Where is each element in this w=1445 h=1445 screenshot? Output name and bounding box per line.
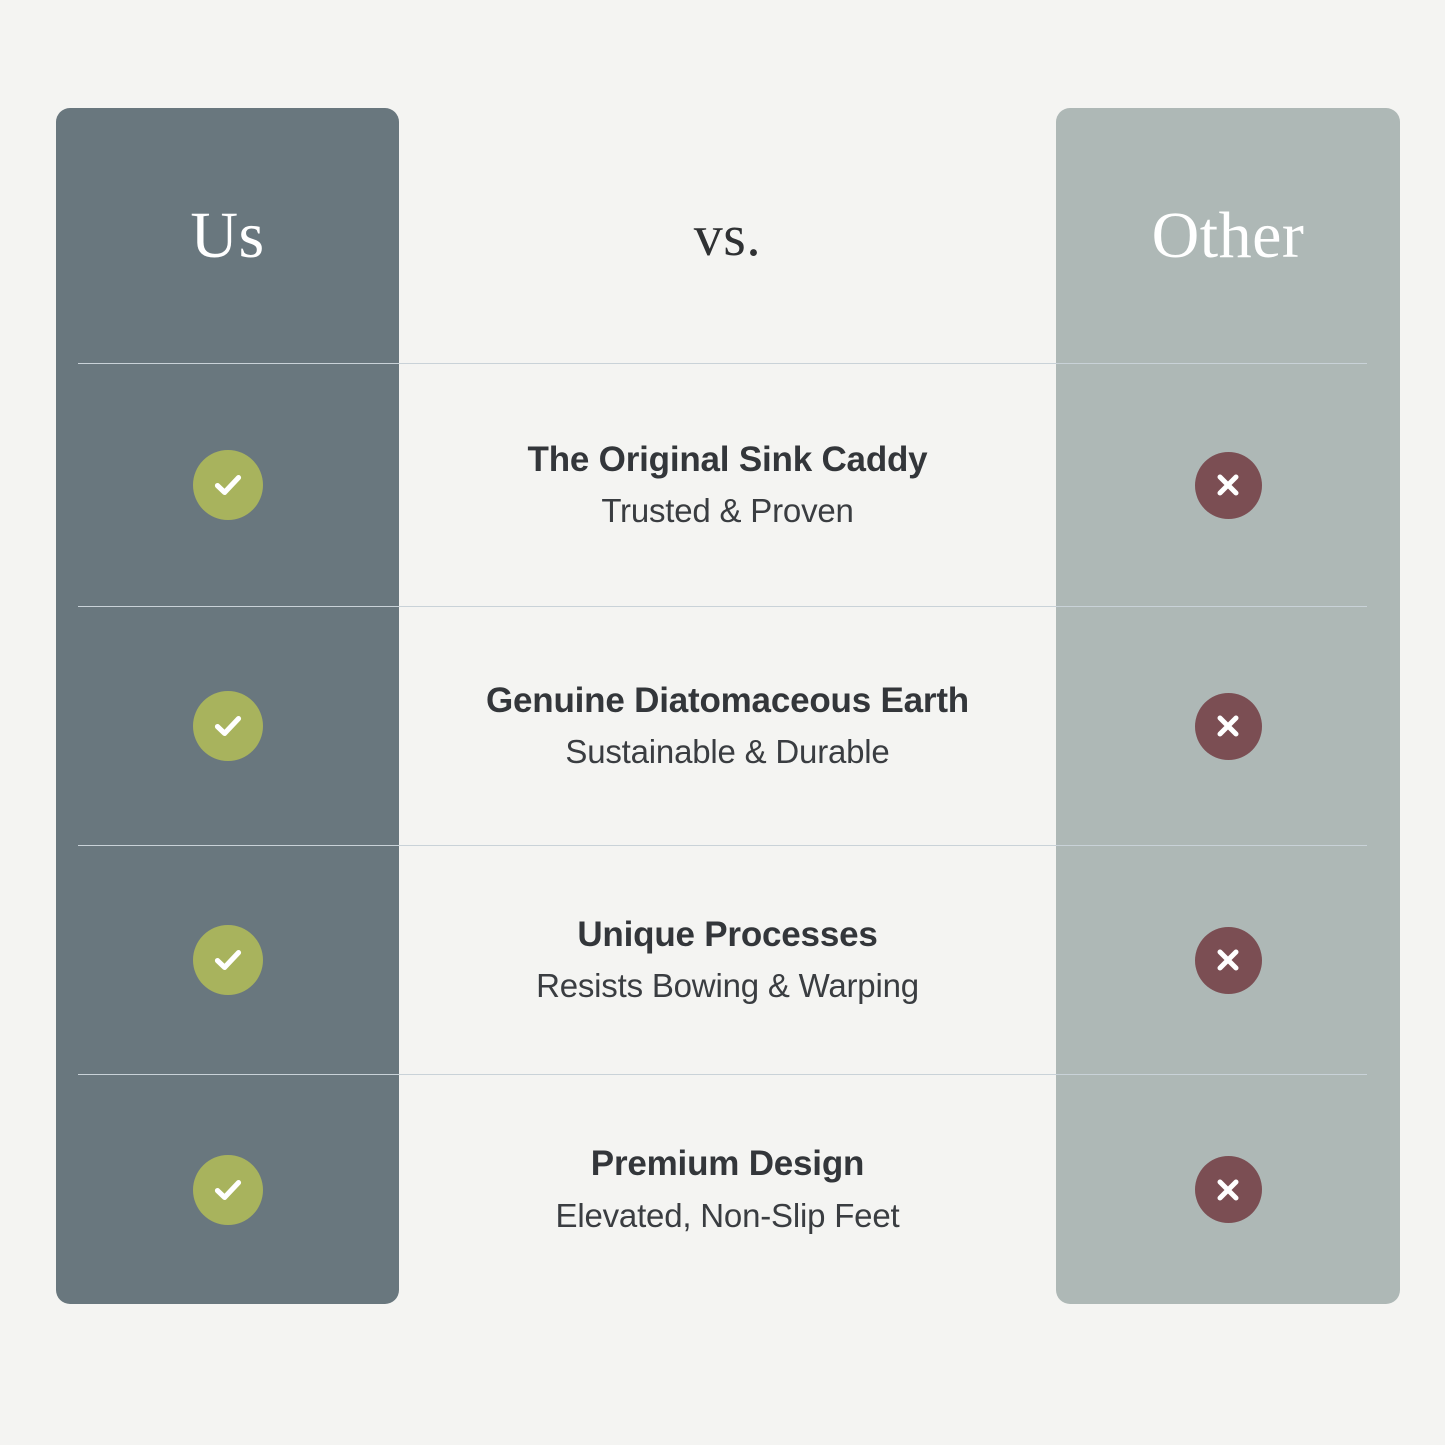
check-circle-icon bbox=[193, 450, 263, 520]
table-row: Premium Design Elevated, Non-Slip Feet bbox=[0, 1075, 1445, 1304]
row-feature-cell: The Original Sink Caddy Trusted & Proven bbox=[399, 364, 1056, 606]
row-feature-cell: Unique Processes Resists Bowing & Warpin… bbox=[399, 846, 1056, 1074]
row-other-cell bbox=[1056, 846, 1400, 1074]
row-other-cell bbox=[1056, 607, 1400, 845]
feature-subtitle: Sustainable & Durable bbox=[565, 733, 889, 772]
feature-title: Unique Processes bbox=[577, 914, 877, 955]
row-us-cell bbox=[56, 607, 399, 845]
row-other-cell bbox=[1056, 1075, 1400, 1304]
table-row: Genuine Diatomaceous Earth Sustainable &… bbox=[0, 607, 1445, 845]
comparison-table: Us vs. Other The Original Sink Caddy Tru… bbox=[0, 0, 1445, 1445]
comparison-header-row: Us vs. Other bbox=[0, 108, 1445, 363]
check-circle-icon bbox=[193, 925, 263, 995]
versus-header: vs. bbox=[399, 108, 1056, 363]
feature-title: The Original Sink Caddy bbox=[528, 439, 928, 480]
other-column-header: Other bbox=[1056, 108, 1400, 363]
us-column-header: Us bbox=[56, 108, 399, 363]
row-us-cell bbox=[56, 1075, 399, 1304]
row-other-cell bbox=[1056, 364, 1400, 606]
check-circle-icon bbox=[193, 1155, 263, 1225]
row-us-cell bbox=[56, 364, 399, 606]
feature-title: Genuine Diatomaceous Earth bbox=[486, 680, 969, 721]
feature-subtitle: Resists Bowing & Warping bbox=[536, 967, 919, 1006]
table-row: The Original Sink Caddy Trusted & Proven bbox=[0, 364, 1445, 606]
row-feature-cell: Premium Design Elevated, Non-Slip Feet bbox=[399, 1075, 1056, 1304]
us-column-label: Us bbox=[190, 198, 264, 274]
versus-label: vs. bbox=[694, 202, 762, 269]
x-circle-icon bbox=[1195, 927, 1262, 994]
feature-subtitle: Trusted & Proven bbox=[601, 492, 853, 531]
x-circle-icon bbox=[1195, 452, 1262, 519]
feature-title: Premium Design bbox=[591, 1143, 864, 1184]
x-circle-icon bbox=[1195, 1156, 1262, 1223]
table-row: Unique Processes Resists Bowing & Warpin… bbox=[0, 846, 1445, 1074]
x-circle-icon bbox=[1195, 693, 1262, 760]
other-column-label: Other bbox=[1152, 198, 1305, 274]
row-feature-cell: Genuine Diatomaceous Earth Sustainable &… bbox=[399, 607, 1056, 845]
row-us-cell bbox=[56, 846, 399, 1074]
check-circle-icon bbox=[193, 691, 263, 761]
feature-subtitle: Elevated, Non-Slip Feet bbox=[556, 1197, 900, 1236]
